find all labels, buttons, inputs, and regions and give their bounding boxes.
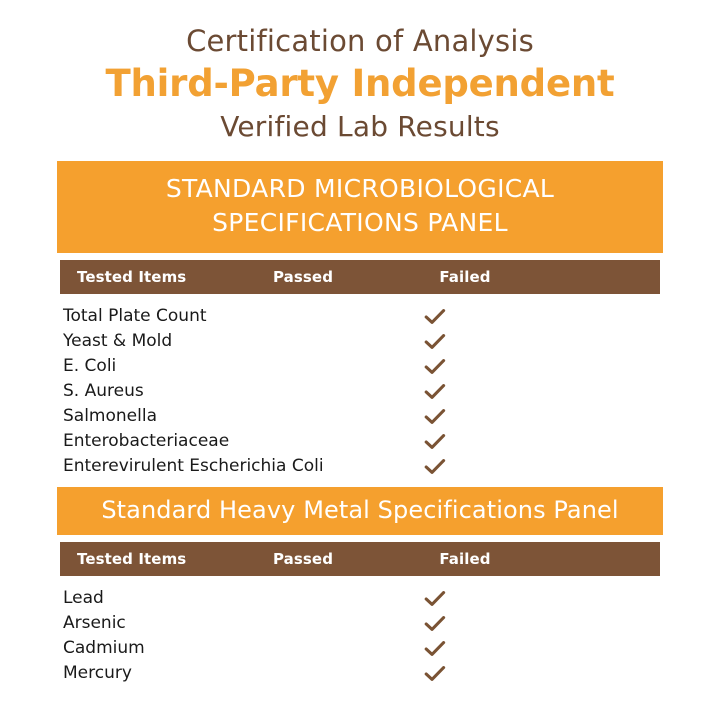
check-icon [418, 661, 452, 686]
panel-banner-line-2: SPECIFICATIONS PANEL [57, 206, 663, 240]
tested-item-name: Enterevirulent Escherichia Coli [63, 454, 324, 479]
failed-cell-empty [580, 454, 614, 479]
tested-item-name: S. Aureus [63, 379, 144, 404]
page-title-line-1: Certification of Analysis [0, 22, 720, 60]
check-icon [418, 404, 452, 429]
failed-cell-empty [580, 354, 614, 379]
table-row: E. Coli [60, 354, 663, 379]
microbiological-specifications-panel: STANDARD MICROBIOLOGICAL SPECIFICATIONS … [57, 161, 663, 479]
panel-banner-microbiological: STANDARD MICROBIOLOGICAL SPECIFICATIONS … [57, 161, 663, 253]
failed-cell-empty [580, 329, 614, 354]
document-title-block: Certification of Analysis Third-Party In… [0, 22, 720, 146]
failed-cell-empty [580, 404, 614, 429]
check-icon [418, 454, 452, 479]
table-header-heavy-metal: Tested Items Passed Failed [60, 542, 660, 576]
table-row: Lead [60, 586, 663, 611]
check-icon [418, 304, 452, 329]
certificate-of-analysis-page: Certification of Analysis Third-Party In… [0, 0, 720, 720]
failed-cell-empty [580, 661, 614, 686]
check-icon [418, 354, 452, 379]
table-row: Mercury [60, 661, 663, 686]
failed-cell-empty [580, 379, 614, 404]
tested-item-name: Lead [63, 586, 104, 611]
panel-banner-heavy-metal: Standard Heavy Metal Specifications Pane… [57, 487, 663, 535]
check-icon [418, 611, 452, 636]
table-body-heavy-metal: LeadArsenicCadmiumMercury [57, 586, 663, 686]
tested-item-name: Cadmium [63, 636, 145, 661]
table-row: Enterevirulent Escherichia Coli [60, 454, 663, 479]
table-body-microbiological: Total Plate CountYeast & MoldE. ColiS. A… [57, 304, 663, 479]
table-header-microbiological: Tested Items Passed Failed [60, 260, 660, 294]
check-icon [418, 379, 452, 404]
failed-cell-empty [580, 636, 614, 661]
panel-banner-line-1: STANDARD MICROBIOLOGICAL [57, 172, 663, 206]
failed-cell-empty [580, 611, 614, 636]
table-row: S. Aureus [60, 379, 663, 404]
tested-item-name: E. Coli [63, 354, 116, 379]
table-row: Total Plate Count [60, 304, 663, 329]
table-row: Salmonella [60, 404, 663, 429]
page-title-line-3: Verified Lab Results [0, 108, 720, 146]
tested-item-name: Enterobacteriaceae [63, 429, 229, 454]
check-icon [418, 586, 452, 611]
heavy-metal-specifications-panel: Standard Heavy Metal Specifications Pane… [57, 487, 663, 686]
page-title-line-2: Third-Party Independent [0, 60, 720, 108]
table-row: Cadmium [60, 636, 663, 661]
failed-cell-empty [580, 304, 614, 329]
column-header-failed: Failed [165, 268, 720, 286]
table-row: Arsenic [60, 611, 663, 636]
column-header-failed: Failed [165, 550, 720, 568]
panel-banner-line-1: Standard Heavy Metal Specifications Pane… [57, 494, 663, 526]
tested-item-name: Total Plate Count [63, 304, 207, 329]
table-row: Enterobacteriaceae [60, 429, 663, 454]
tested-item-name: Mercury [63, 661, 132, 686]
tested-item-name: Salmonella [63, 404, 157, 429]
check-icon [418, 329, 452, 354]
table-row: Yeast & Mold [60, 329, 663, 354]
check-icon [418, 429, 452, 454]
failed-cell-empty [580, 429, 614, 454]
check-icon [418, 636, 452, 661]
tested-item-name: Yeast & Mold [63, 329, 172, 354]
tested-item-name: Arsenic [63, 611, 126, 636]
failed-cell-empty [580, 586, 614, 611]
